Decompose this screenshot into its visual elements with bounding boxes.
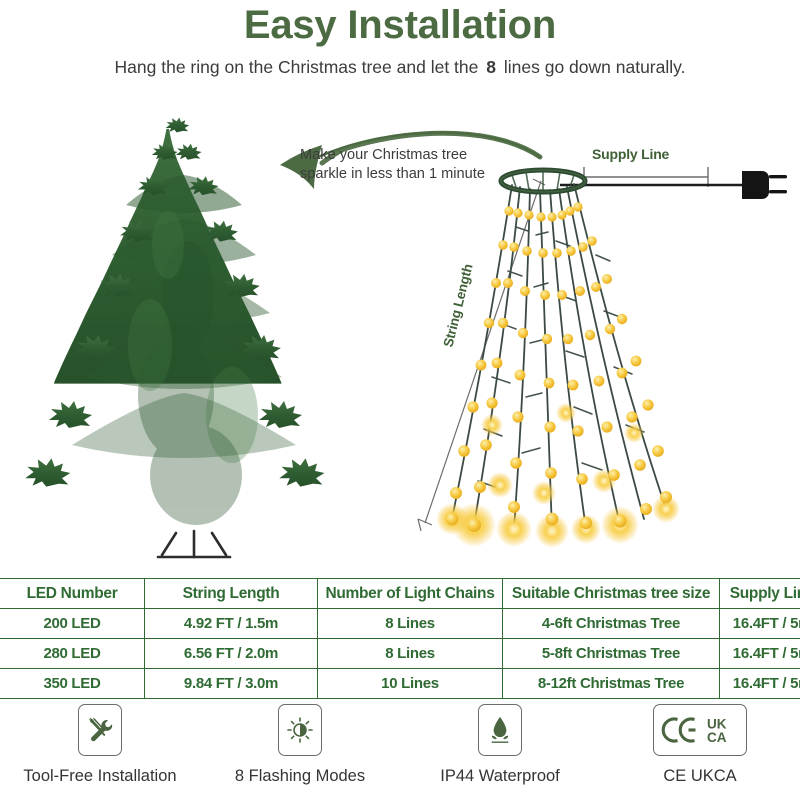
feature-label: Tool-Free Installation	[23, 767, 176, 786]
specification-table: LED Number String Length Number of Light…	[0, 578, 800, 699]
table-header-string-length: String Length	[145, 579, 318, 609]
cell-tree-size: 4-6ft Christmas Tree	[503, 609, 720, 639]
feature-waterproof: IP44 Waterproof	[400, 704, 600, 800]
table-header-light-chains: Number of Light Chains	[318, 579, 503, 609]
water-drop-icon-frame	[478, 704, 522, 756]
callout-line-1: Make your Christmas tree	[300, 146, 535, 165]
cell-supply-line: 16.4FT / 5m	[720, 639, 800, 669]
ce-ukca-badge-icon-frame: UK CA	[653, 704, 747, 756]
supply-line-label: Supply Line	[592, 146, 669, 162]
christmas-tree-illustration	[25, 118, 324, 557]
cell-supply-line: 16.4FT / 5m	[720, 609, 800, 639]
cell-light-chains: 10 Lines	[318, 669, 503, 699]
table-header-led-number: LED Number	[0, 579, 145, 609]
feature-label: IP44 Waterproof	[440, 767, 560, 786]
cell-tree-size: 8-12ft Christmas Tree	[503, 669, 720, 699]
table-row: 200 LED 4.92 FT / 1.5m 8 Lines 4-6ft Chr…	[0, 609, 800, 639]
tools-icon	[85, 715, 115, 745]
table-row: 280 LED 6.56 FT / 2.0m 8 Lines 5-8ft Chr…	[0, 639, 800, 669]
tree-stand	[158, 531, 230, 557]
cell-string-length: 6.56 FT / 2.0m	[145, 639, 318, 669]
subtitle-text-before: Hang the ring on the Christmas tree and …	[115, 57, 479, 77]
cell-string-length: 4.92 FT / 1.5m	[145, 609, 318, 639]
feature-label: 8 Flashing Modes	[235, 767, 365, 786]
cell-led-number: 280 LED	[0, 639, 145, 669]
led-light-curtain	[436, 170, 680, 548]
power-plug-icon	[742, 171, 787, 199]
callout-text: Make your Christmas tree sparkle in less…	[300, 146, 535, 184]
brightness-sun-icon	[285, 715, 315, 745]
water-drop-icon	[485, 714, 515, 746]
led-bulb-layer	[446, 202, 672, 532]
feature-tool-free-installation: Tool-Free Installation	[0, 704, 200, 800]
cell-tree-size: 5-8ft Christmas Tree	[503, 639, 720, 669]
cell-led-number: 350 LED	[0, 669, 145, 699]
table-header-tree-size: Suitable Christmas tree size	[503, 579, 720, 609]
cell-light-chains: 8 Lines	[318, 639, 503, 669]
table-header-supply-line: Supply Line	[720, 579, 800, 609]
brightness-sun-icon-frame	[278, 704, 322, 756]
cell-supply-line: 16.4FT / 5m	[720, 669, 800, 699]
badge-ca-text: CA	[707, 730, 727, 745]
page-subtitle: Hang the ring on the Christmas tree and …	[0, 56, 800, 78]
feature-strip: Tool-Free Installation 8 Flashing Modes	[0, 704, 800, 800]
feature-flashing-modes: 8 Flashing Modes	[200, 704, 400, 800]
cell-string-length: 9.84 FT / 3.0m	[145, 669, 318, 699]
cell-light-chains: 8 Lines	[318, 609, 503, 639]
ce-ukca-badge-icon: UK CA	[661, 713, 739, 747]
subtitle-text-after: lines go down naturally.	[504, 57, 686, 77]
subtitle-emphasis-number: 8	[483, 57, 499, 77]
page-title: Easy Installation	[0, 2, 800, 48]
cell-led-number: 200 LED	[0, 609, 145, 639]
spec-table-body: LED Number String Length Number of Light…	[0, 579, 800, 699]
tools-icon-frame	[78, 704, 122, 756]
callout-line-2: sparkle in less than 1 minute	[300, 165, 535, 184]
table-header-row: LED Number String Length Number of Light…	[0, 579, 800, 609]
table-row: 350 LED 9.84 FT / 3.0m 10 Lines 8-12ft C…	[0, 669, 800, 699]
feature-label: CE UKCA	[663, 767, 736, 786]
feature-ce-ukca: UK CA CE UKCA	[600, 704, 800, 800]
